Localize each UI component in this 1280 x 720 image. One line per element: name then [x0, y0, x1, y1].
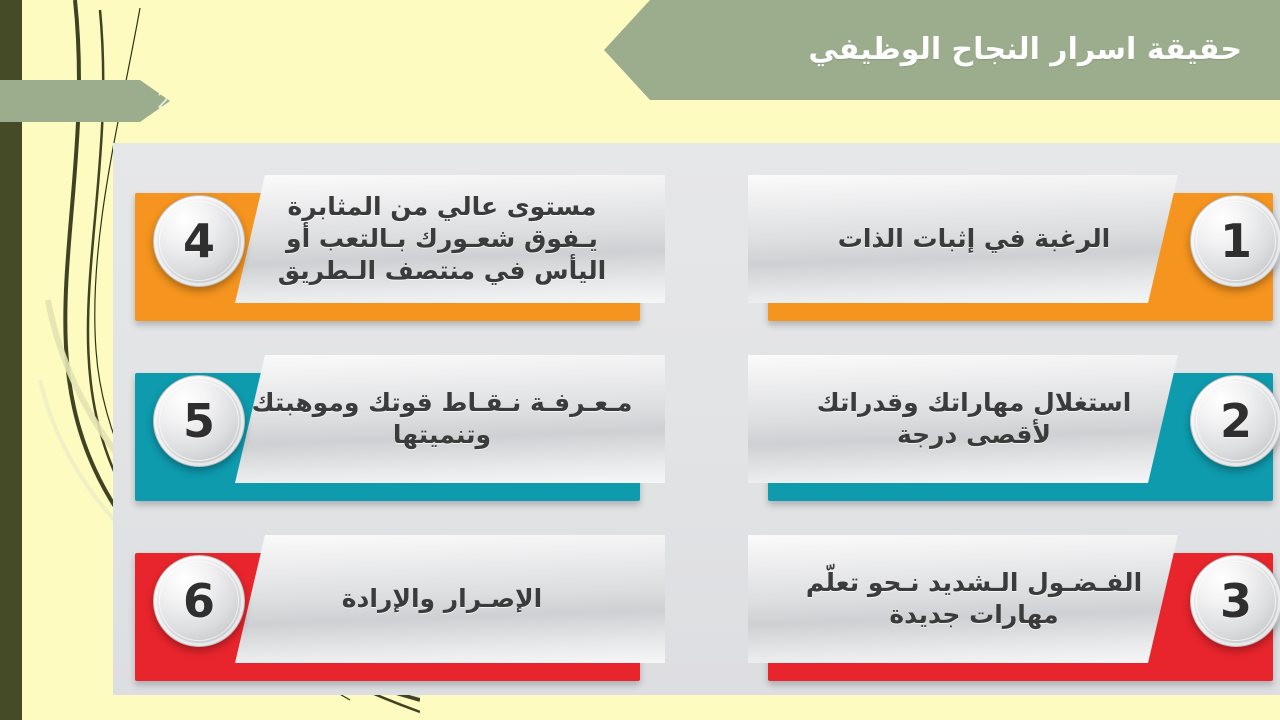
- item-text: مستوى عالي من المثابرة يـفوق شعـورك بـال…: [235, 191, 665, 287]
- item-number: 1: [1220, 218, 1252, 264]
- item-number-badge: 1: [1190, 195, 1280, 287]
- item-plate: مستوى عالي من المثابرة يـفوق شعـورك بـال…: [235, 175, 665, 303]
- item-number-badge: 6: [153, 555, 245, 647]
- list-item[interactable]: الرغبة في إثبات الذات 1: [738, 175, 1273, 330]
- title-banner: حقيقة اسرار النجاح الوظيفي: [604, 0, 1280, 100]
- item-number-badge: 5: [153, 375, 245, 467]
- list-item[interactable]: استغلال مهاراتك وقدراتك لأقصى درجة 2: [738, 355, 1273, 510]
- list-item[interactable]: الإصـرار والإرادة 6: [135, 535, 670, 690]
- slide-canvas: 2 حقيقة اسرار النجاح الوظيفي الرغبة في إ…: [0, 0, 1280, 720]
- item-number: 3: [1220, 578, 1252, 624]
- page-title: حقيقة اسرار النجاح الوظيفي: [808, 35, 1280, 65]
- item-text: استغلال مهاراتك وقدراتك لأقصى درجة: [748, 387, 1178, 451]
- item-number-badge: 4: [153, 195, 245, 287]
- item-number-badge: 3: [1190, 555, 1280, 647]
- item-plate: الرغبة في إثبات الذات: [748, 175, 1178, 303]
- item-text: مـعـرفـة نـقـاط قوتك وموهبتك وتنميتها: [235, 387, 665, 451]
- item-number-badge: 2: [1190, 375, 1280, 467]
- items-grid: الرغبة في إثبات الذات 1 استغلال مهاراتك …: [113, 143, 1280, 695]
- content-panel: الرغبة في إثبات الذات 1 استغلال مهاراتك …: [113, 143, 1280, 695]
- item-plate: الإصـرار والإرادة: [235, 535, 665, 663]
- item-number: 4: [183, 218, 215, 264]
- item-text: الفـضـول الـشديد نـحو تعلّم مهارات جديدة: [748, 567, 1178, 631]
- list-item[interactable]: مستوى عالي من المثابرة يـفوق شعـورك بـال…: [135, 175, 670, 330]
- list-item[interactable]: مـعـرفـة نـقـاط قوتك وموهبتك وتنميتها 5: [135, 355, 670, 510]
- item-plate: استغلال مهاراتك وقدراتك لأقصى درجة: [748, 355, 1178, 483]
- slide-number-tab: 2: [0, 80, 170, 122]
- item-text: الرغبة في إثبات الذات: [748, 223, 1178, 255]
- item-number: 5: [183, 398, 215, 444]
- item-plate: الفـضـول الـشديد نـحو تعلّم مهارات جديدة: [748, 535, 1178, 663]
- list-item[interactable]: الفـضـول الـشديد نـحو تعلّم مهارات جديدة…: [738, 535, 1273, 690]
- item-number: 6: [183, 578, 215, 624]
- slide-number: 2: [47, 89, 170, 113]
- item-plate: مـعـرفـة نـقـاط قوتك وموهبتك وتنميتها: [235, 355, 665, 483]
- item-number: 2: [1220, 398, 1252, 444]
- item-text: الإصـرار والإرادة: [235, 583, 665, 615]
